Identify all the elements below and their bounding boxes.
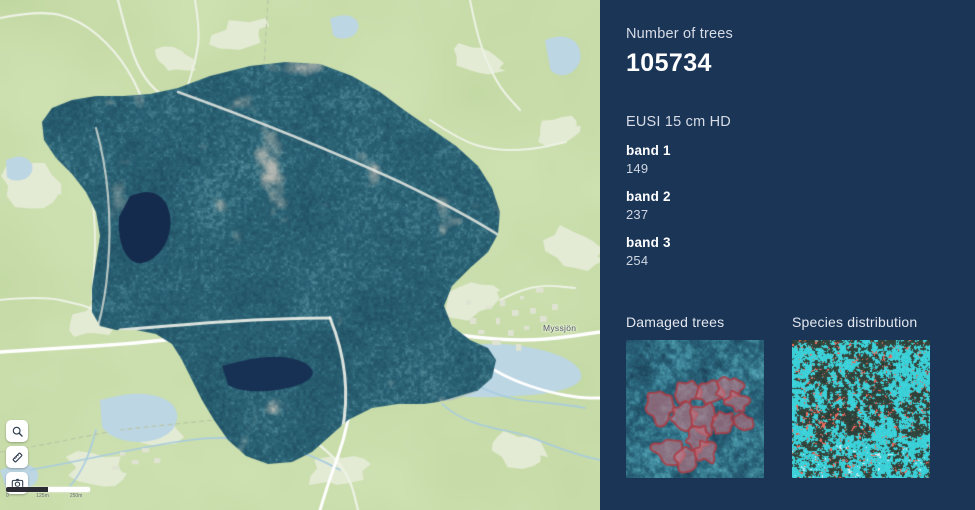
map-controls [6, 420, 28, 494]
scale-bar-segments [6, 487, 90, 492]
band-row: band 1 149 [626, 143, 975, 176]
map-pane[interactable]: Myssjön [0, 0, 600, 510]
dashboard-root: Myssjön [0, 0, 975, 510]
zoom-search-button[interactable] [6, 420, 28, 442]
band-value: 254 [626, 253, 975, 268]
band-row: band 3 254 [626, 235, 975, 268]
analysis-thumbnails: Damaged trees Species distribution [626, 314, 930, 478]
info-panel: Number of trees 105734 EUSI 15 cm HD ban… [600, 0, 975, 510]
tree-count-value: 105734 [626, 49, 975, 78]
scale-bar: 0 125m 250m [6, 487, 90, 503]
scale-seg-2 [48, 487, 90, 492]
band-name: band 3 [626, 235, 975, 250]
thumbnail-species-distribution[interactable]: Species distribution [792, 314, 930, 478]
tree-count-label: Number of trees [626, 26, 975, 42]
band-value: 237 [626, 207, 975, 222]
imagery-source-block: EUSI 15 cm HD band 1 149 band 2 237 band… [626, 114, 975, 268]
thumbnail-title: Damaged trees [626, 314, 764, 330]
measure-button[interactable] [6, 446, 28, 468]
tree-count-block: Number of trees 105734 [626, 26, 975, 78]
band-name: band 2 [626, 189, 975, 204]
ruler-icon [11, 451, 24, 464]
band-value: 149 [626, 161, 975, 176]
scale-seg-1 [6, 487, 48, 492]
damaged-trees-image[interactable] [626, 340, 764, 478]
thumbnail-title: Species distribution [792, 314, 930, 330]
magnifier-icon [11, 425, 24, 438]
scale-bar-ticks: 0 125m 250m [6, 493, 90, 503]
imagery-source-title: EUSI 15 cm HD [626, 114, 975, 130]
scale-tick-0: 0 [6, 493, 9, 499]
panel-content: Number of trees 105734 EUSI 15 cm HD ban… [600, 0, 975, 268]
scale-tick-2: 250m [70, 493, 83, 499]
thumbnail-damaged-trees[interactable]: Damaged trees [626, 314, 764, 478]
band-name: band 1 [626, 143, 975, 158]
forest-overlay-canvas [0, 0, 600, 510]
band-row: band 2 237 [626, 189, 975, 222]
scale-tick-1: 125m [36, 493, 49, 499]
species-distribution-image[interactable] [792, 340, 930, 478]
